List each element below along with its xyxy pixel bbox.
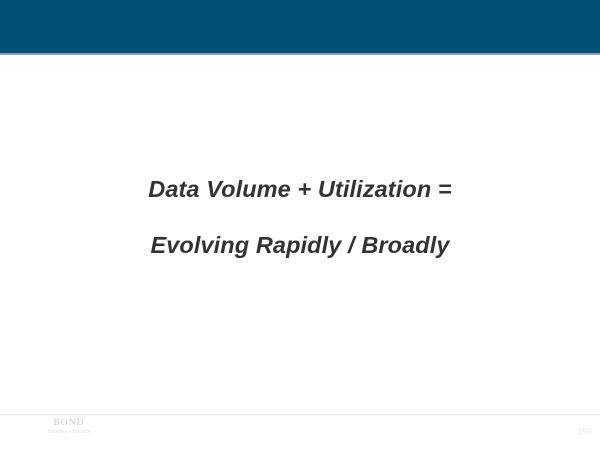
title-block: Data Volume + Utilization = Evolving Rap… bbox=[0, 178, 600, 257]
header-band bbox=[0, 0, 600, 53]
bond-logo-subtitle: Internet Trends bbox=[14, 429, 124, 436]
footer-divider bbox=[0, 414, 600, 415]
title-line-2: Evolving Rapidly / Broadly bbox=[0, 234, 600, 258]
bond-logo-year: 2019 bbox=[14, 436, 124, 442]
slide: Data Volume + Utilization = Evolving Rap… bbox=[0, 0, 600, 450]
bond-logo: BOND Internet Trends 2019 bbox=[14, 419, 124, 442]
title-line-1: Data Volume + Utilization = bbox=[0, 178, 600, 202]
header-band-edge bbox=[0, 53, 600, 55]
page-number: 150 bbox=[578, 427, 592, 436]
